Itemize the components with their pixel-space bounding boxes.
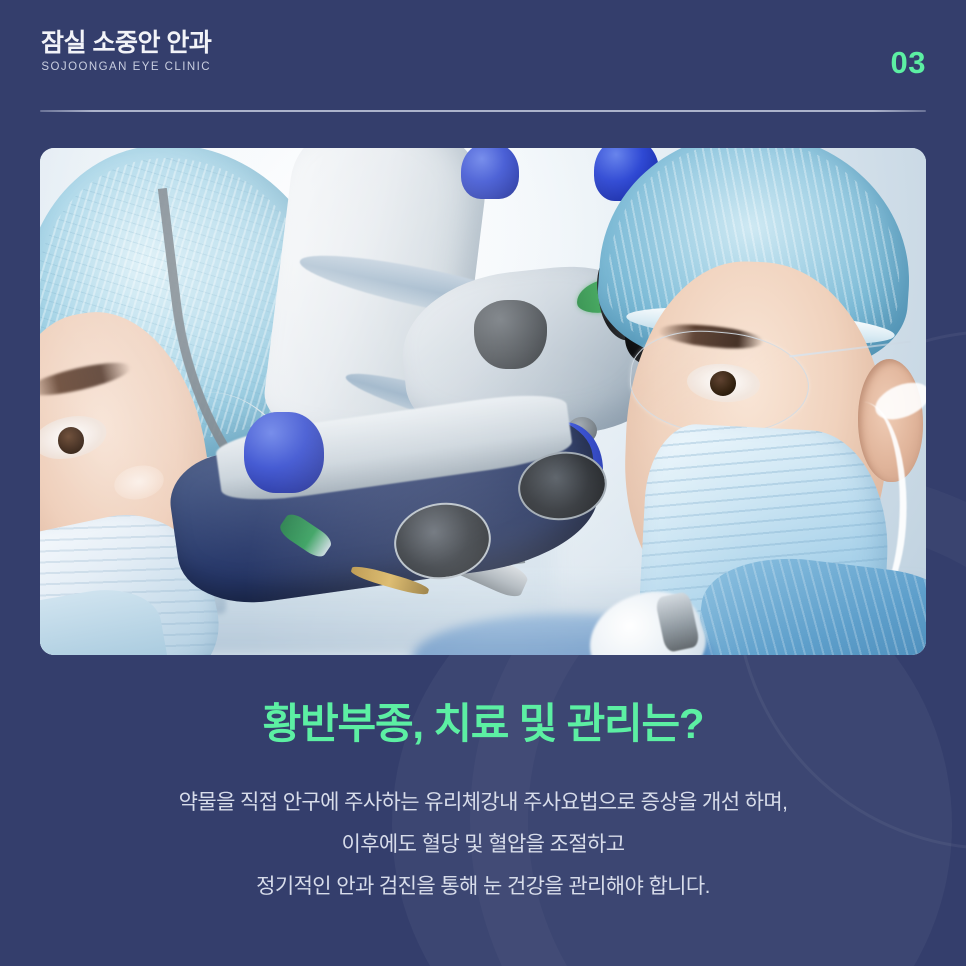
- surgeon-figure: [536, 148, 926, 655]
- page-number-badge: 03: [891, 47, 926, 78]
- header-divider: [40, 110, 926, 112]
- body-line-2: 이후에도 혈당 및 혈압을 조절하고: [0, 824, 966, 866]
- surgery-photo: Carl Zeiss: [40, 148, 926, 655]
- body-copy: 약물을 직접 안구에 주사하는 유리체강내 주사요법으로 증상을 개선 하며, …: [0, 782, 966, 908]
- clinic-info-card: 잠실 소중안 안과 SOJOONGAN EYE CLINIC 03: [0, 0, 966, 966]
- body-line-1: 약물을 직접 안구에 주사하는 유리체강내 주사요법으로 증상을 개선 하며,: [0, 782, 966, 824]
- nurse-pupil: [58, 427, 84, 454]
- clinic-logo: 잠실 소중안 안과 SOJOONGAN EYE CLINIC: [41, 30, 211, 73]
- surgery-photo-illustration: Carl Zeiss: [40, 148, 926, 655]
- headline-title: 황반부종, 치료 및 관리는?: [0, 700, 966, 748]
- card-header: 잠실 소중안 안과 SOJOONGAN EYE CLINIC 03: [0, 0, 966, 112]
- microscope-base-blue-knob: [244, 412, 324, 493]
- logo-korean-name: 잠실 소중안 안과: [41, 30, 211, 58]
- body-line-3: 정기적인 안과 검진을 통해 눈 건강을 관리해야 합니다.: [0, 866, 966, 908]
- logo-english-name: SOJOONGAN EYE CLINIC: [41, 61, 211, 73]
- microscope-blue-knob-left: [461, 148, 519, 199]
